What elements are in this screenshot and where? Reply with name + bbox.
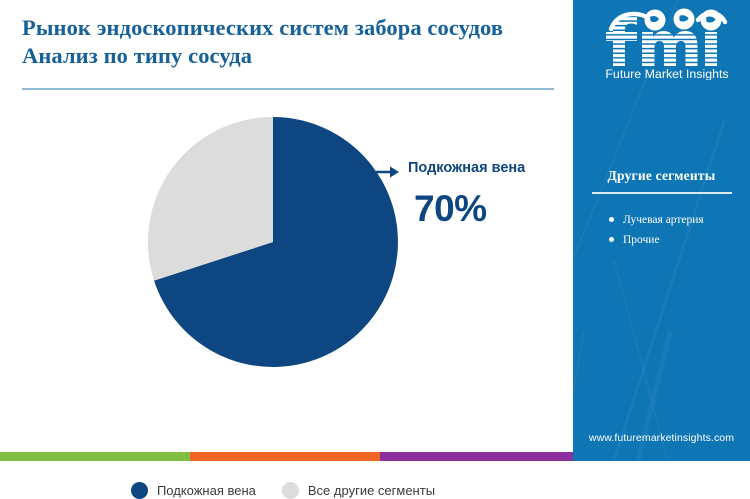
callout-label: Подкожная вена xyxy=(408,160,525,176)
color-bar-segment-orange xyxy=(190,452,380,461)
page-title: Рынок эндоскопических систем забора сосу… xyxy=(22,14,542,70)
website-url[interactable]: www.futuremarketinsights.com xyxy=(573,432,750,444)
side-panel: Future Market Insights Другие сегменты Л… xyxy=(573,0,750,461)
arrow-right-icon xyxy=(372,165,400,179)
bottom-color-bar xyxy=(0,452,573,461)
chart-legend: Подкожная вена Все другие сегменты xyxy=(0,482,566,499)
legend-label: Все другие сегменты xyxy=(308,483,435,498)
fmi-logo[interactable]: Future Market Insights xyxy=(597,8,737,80)
other-segments-list: Лучевая артерия Прочие xyxy=(573,210,750,250)
other-segments-heading: Другие сегменты xyxy=(573,168,750,184)
list-item: Прочие xyxy=(609,230,750,250)
legend-item-other-segments: Все другие сегменты xyxy=(282,482,435,499)
infographic-slide: Рынок эндоскопических систем забора сосу… xyxy=(0,0,750,461)
list-item: Лучевая артерия xyxy=(609,210,750,230)
callout-value: 70% xyxy=(414,188,487,230)
pie-chart-svg xyxy=(148,117,398,367)
chart-area: Подкожная вена 70% Подкожная вена Все др… xyxy=(0,90,566,430)
color-bar-segment-purple xyxy=(380,452,573,461)
globe-icon-group xyxy=(645,9,722,31)
color-bar-segment-green xyxy=(0,452,190,461)
legend-label: Подкожная вена xyxy=(157,483,256,498)
header: Рынок эндоскопических систем забора сосу… xyxy=(0,0,566,90)
other-segments-block: Другие сегменты Лучевая артерия Прочие xyxy=(573,168,750,250)
fmi-globes-logo-icon: Future Market Insights xyxy=(597,8,737,80)
legend-item-saphenous-vein: Подкожная вена xyxy=(131,482,256,499)
pie-chart xyxy=(148,117,398,367)
logo-tagline: Future Market Insights xyxy=(605,67,728,80)
legend-swatch-icon xyxy=(131,482,148,499)
other-segments-divider xyxy=(592,192,732,194)
legend-swatch-icon xyxy=(282,482,299,499)
